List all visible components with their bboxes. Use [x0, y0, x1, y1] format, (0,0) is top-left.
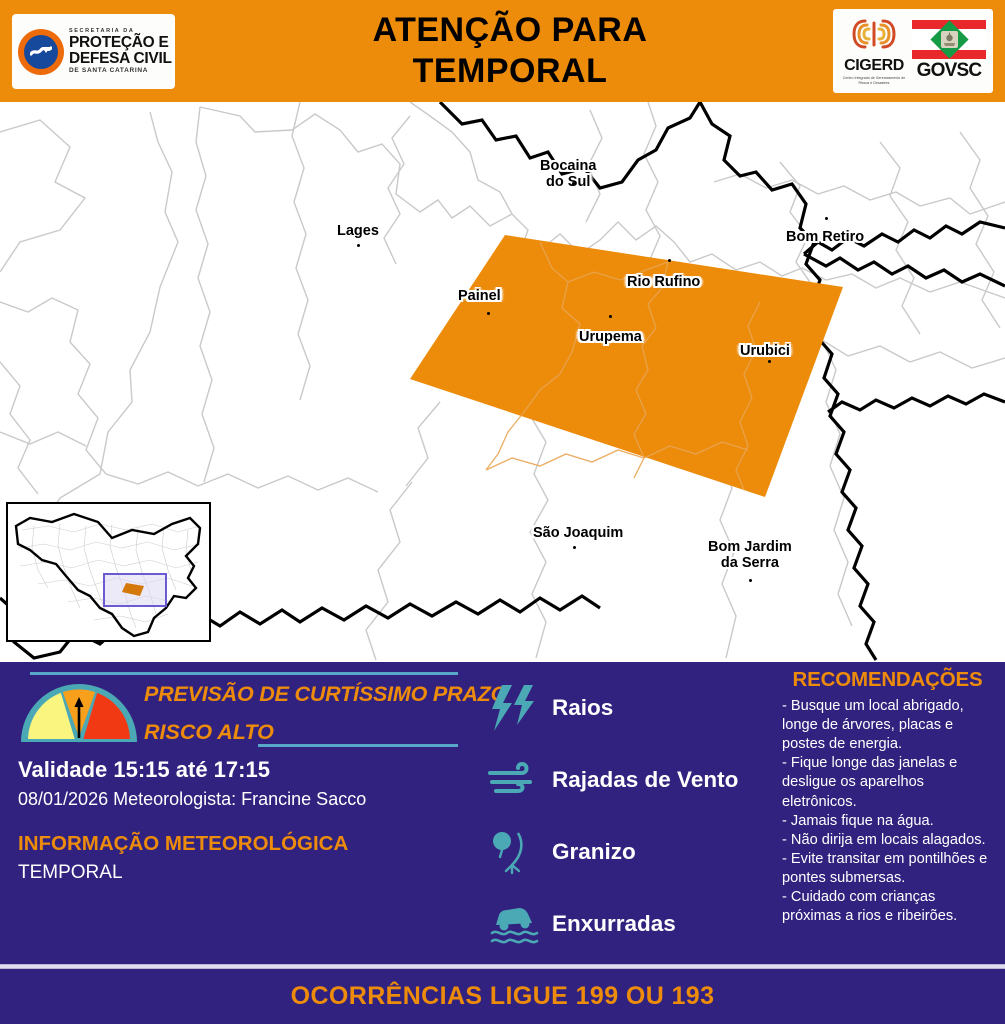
city-dot [609, 315, 612, 318]
city-dot [668, 259, 671, 262]
city-label-line: da Serra [708, 556, 792, 572]
cigerd-name: CIGERD [838, 57, 910, 75]
city-label: Bom Retiro [786, 230, 864, 246]
emergency-footer-bar: OCORRÊNCIAS LIGUE 199 OU 193 [0, 969, 1005, 1024]
cigerd-mark-icon [849, 17, 899, 51]
forecast-divider-top [30, 672, 458, 675]
city-dot [768, 360, 771, 363]
city-label-line: Rio Rufino [627, 275, 700, 291]
hazard-label: Enxurradas [552, 911, 676, 937]
risk-level-label: RISCO ALTO [144, 720, 274, 745]
validity-period: Validade 15:15 até 17:15 [18, 757, 270, 783]
recommendation-item: - Busque um local abrigado, longe de árv… [782, 697, 997, 754]
hazard-item-rajadas-de-vento: Rajadas de Vento [488, 744, 768, 816]
logo-line-santa-catarina: DE SANTA CATARINA [69, 68, 172, 75]
date-and-meteorologist: 08/01/2026 Meteorologista: Francine Sacc… [18, 789, 366, 810]
city-label-line: Bom Retiro [786, 230, 864, 246]
hazard-label: Rajadas de Vento [552, 767, 738, 793]
santa-catarina-flag-icon [912, 20, 986, 59]
santa-catarina-locator-map [6, 502, 211, 642]
city-dot [487, 312, 490, 315]
gov-sc-text: GOVSC [910, 60, 988, 82]
city-dot [825, 217, 828, 220]
city-label: Urupema [579, 330, 642, 346]
emergency-phone-text: OCORRÊNCIAS LIGUE 199 OU 193 [291, 982, 715, 1011]
flooded-car-icon [488, 899, 544, 949]
city-label: Bocainado Sul [540, 159, 596, 191]
page-title-line2: TEMPORAL [250, 51, 770, 92]
meteorological-info-value: TEMPORAL [18, 862, 123, 884]
page-title: ATENÇÃO PARA TEMPORAL [250, 10, 770, 93]
recommendation-item: - Não dirija em locais alagados. [782, 831, 997, 850]
alert-area-map[interactable]: Bocainado SulLagesBom RetiroRio RufinoPa… [0, 102, 1005, 662]
city-dot [749, 579, 752, 582]
city-label: Urubici [740, 344, 790, 360]
city-label-line: São Joaquim [533, 526, 623, 542]
meteorological-info-title: INFORMAÇÃO METEOROLÓGICA [18, 832, 348, 856]
recommendation-item: - Cuidado com crianças próximas a rios e… [782, 888, 997, 926]
city-label-line: Lages [337, 224, 379, 240]
forecast-divider-mid [258, 744, 458, 747]
recommendation-item: - Fique longe das janelas e desligue os … [782, 754, 997, 811]
city-label-line: Painel [458, 289, 501, 305]
city-label-line: Bocaina [540, 159, 596, 175]
weather-alert-bulletin: SECRETARIA DA PROTEÇÃO E DEFESA CIVIL DE… [0, 0, 1005, 1024]
city-dot [357, 244, 360, 247]
city-label: Bom Jardimda Serra [708, 540, 792, 572]
hail-icon [488, 827, 544, 877]
logo-line-defesa-civil: DEFESA CIVIL [69, 51, 172, 67]
recommendations-title: RECOMENDAÇÕES [780, 668, 995, 692]
city-dot [572, 182, 575, 185]
recommendation-item: - Jamais fique na água. [782, 812, 997, 831]
header-bar: SECRETARIA DA PROTEÇÃO E DEFESA CIVIL DE… [0, 0, 1005, 102]
recommendation-item: - Evite transitar em pontilhões e pontes… [782, 850, 997, 888]
protecao-defesa-civil-sc-logo: SECRETARIA DA PROTEÇÃO E DEFESA CIVIL DE… [12, 14, 175, 89]
logo-line-protecao: PROTEÇÃO E [69, 35, 172, 51]
city-dot [573, 546, 576, 549]
cigerd-logo: CIGERD Centro Integrado de Gerenciamento… [838, 17, 910, 86]
hazard-label: Granizo [552, 839, 636, 865]
city-label-line: do Sul [540, 175, 596, 191]
page-title-line1: ATENÇÃO PARA [373, 11, 648, 49]
hazard-item-raios: Raios [488, 672, 768, 744]
lightning-bolt-icon [488, 683, 544, 733]
gov-sc-logo: GOVSC [910, 20, 988, 82]
hazard-label: Raios [552, 695, 613, 721]
city-label-line: Bom Jardim [708, 540, 792, 556]
city-label: Rio Rufino [627, 275, 700, 291]
risk-gauge [18, 680, 140, 746]
hazard-item-enxurradas: Enxurradas [488, 888, 768, 960]
wind-gust-icon [488, 755, 544, 805]
city-label: Lages [337, 224, 379, 240]
city-label: São Joaquim [533, 526, 623, 542]
forecast-title: PREVISÃO DE CURTÍSSIMO PRAZO [144, 682, 454, 707]
city-label: Painel [458, 289, 501, 305]
recommendations-list: - Busque um local abrigado, longe de árv… [782, 697, 997, 926]
hazard-item-granizo: Granizo [488, 816, 768, 888]
civil-defense-emblem-icon [18, 29, 64, 75]
hazard-list: Raios Rajadas de Vento [488, 672, 768, 960]
cigerd-subtitle: Centro Integrado de Gerenciamento de Ris… [838, 76, 910, 86]
partner-logos: CIGERD Centro Integrado de Gerenciamento… [833, 9, 993, 93]
city-label-line: Urubici [740, 344, 790, 360]
city-label-line: Urupema [579, 330, 642, 346]
